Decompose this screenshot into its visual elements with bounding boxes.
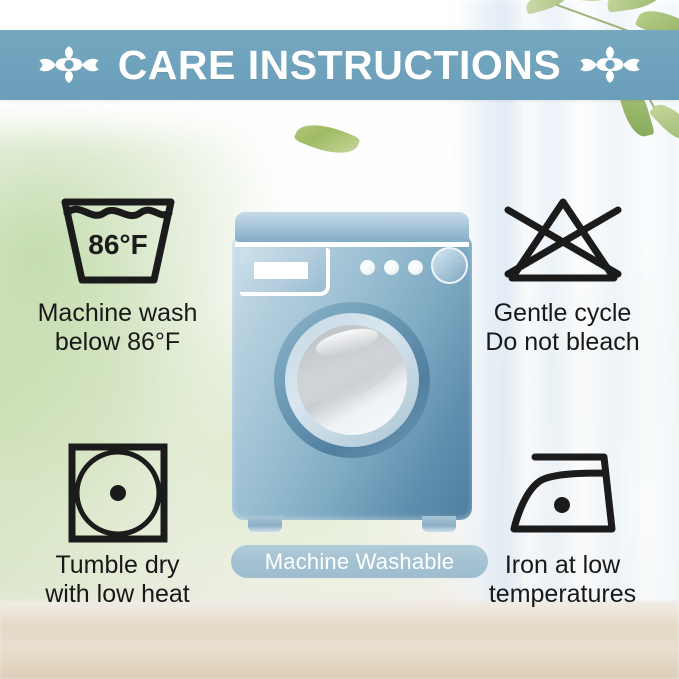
status-badge: Machine Washable [231,545,488,578]
status-badge-label: Machine Washable [265,551,454,573]
care-item-caption: Machine wash below 86°F [10,299,225,357]
wooden-table-background [0,601,679,679]
control-panel [330,248,469,292]
detergent-drawer [240,248,330,296]
care-item-tumble-dry: Tumble dry with low heat [10,440,225,609]
machine-foot [248,516,282,532]
care-item-do-not-bleach: Gentle cycle Do not bleach [455,188,670,357]
fleur-de-lis-icon [579,42,641,88]
detergent-drawer-slot [254,262,308,279]
iron-one-dot-icon [455,440,670,545]
header-banner: CARE INSTRUCTIONS [0,30,679,100]
wash-tub-icon: 86°F [10,188,225,293]
tumble-dry-low-icon [10,440,225,545]
machine-door [274,302,430,458]
care-item-caption: Tumble dry with low heat [10,551,225,609]
care-instructions-card: CARE INSTRUCTIONS 86°F Machine wash belo… [0,0,679,679]
machine-door-ring [285,313,419,447]
page-title: CARE INSTRUCTIONS [118,45,562,86]
washing-machine-illustration [232,212,472,532]
machine-foot [422,516,456,532]
machine-lid-gap [235,242,469,247]
control-button [384,260,399,275]
control-dial [431,247,468,284]
fleur-de-lis-icon [38,42,100,88]
machine-lid [235,212,469,242]
care-item-machine-wash: 86°F Machine wash below 86°F [10,188,225,357]
wash-temperature-label: 86°F [88,229,147,260]
care-item-caption: Gentle cycle Do not bleach [455,299,670,357]
care-item-iron-low: Iron at low temperatures [455,440,670,609]
machine-door-glass [297,325,407,435]
control-button [360,260,375,275]
control-button [408,260,423,275]
triangle-crossed-out-icon [455,188,670,293]
